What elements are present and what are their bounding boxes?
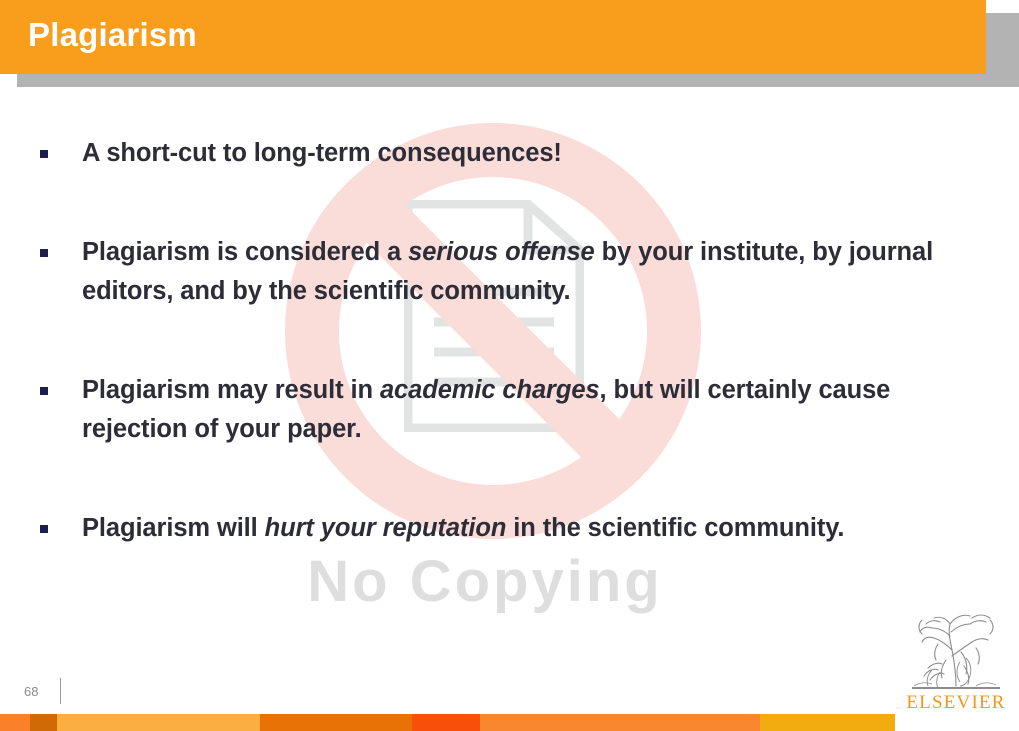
elsevier-wordmark: ELSEVIER bbox=[900, 692, 1012, 714]
list-item: Plagiarism is considered a serious offen… bbox=[40, 233, 970, 311]
footer-divider bbox=[60, 678, 61, 704]
color-strip-segment-5 bbox=[412, 714, 480, 731]
footer-color-strip bbox=[0, 714, 1019, 731]
color-strip-segment-4 bbox=[260, 714, 412, 731]
watermark-text: No Copying bbox=[285, 548, 685, 615]
square-bullet-icon bbox=[40, 387, 48, 395]
list-item: A short-cut to long-term consequences! bbox=[40, 134, 970, 173]
square-bullet-icon bbox=[40, 525, 48, 533]
bullet-1-text: A short-cut to long-term consequences! bbox=[82, 134, 970, 173]
bullet-3-text: Plagiarism may result in academic charge… bbox=[82, 371, 970, 449]
color-strip-segment-8 bbox=[895, 714, 1019, 731]
list-item: Plagiarism may result in academic charge… bbox=[40, 371, 970, 449]
square-bullet-icon bbox=[40, 150, 48, 158]
color-strip-segment-1 bbox=[0, 714, 30, 731]
bullet-list: A short-cut to long-term consequences! P… bbox=[40, 134, 970, 548]
bullet-2-text: Plagiarism is considered a serious offen… bbox=[82, 233, 970, 311]
color-strip-segment-7 bbox=[760, 714, 895, 731]
page-number: 68 bbox=[24, 684, 38, 699]
list-item: Plagiarism will hurt your reputation in … bbox=[40, 509, 970, 548]
color-strip-segment-3 bbox=[57, 714, 260, 731]
color-strip-segment-2 bbox=[30, 714, 57, 731]
bullet-4-text: Plagiarism will hurt your reputation in … bbox=[82, 509, 970, 548]
elsevier-logo: ELSEVIER bbox=[900, 606, 1012, 718]
slide-title: Plagiarism bbox=[28, 16, 197, 54]
presentation-slide: Plagiarism No Copying A short-cut to lon… bbox=[0, 0, 1019, 731]
elsevier-tree-icon bbox=[906, 606, 1006, 694]
color-strip-segment-6 bbox=[480, 714, 760, 731]
square-bullet-icon bbox=[40, 249, 48, 257]
